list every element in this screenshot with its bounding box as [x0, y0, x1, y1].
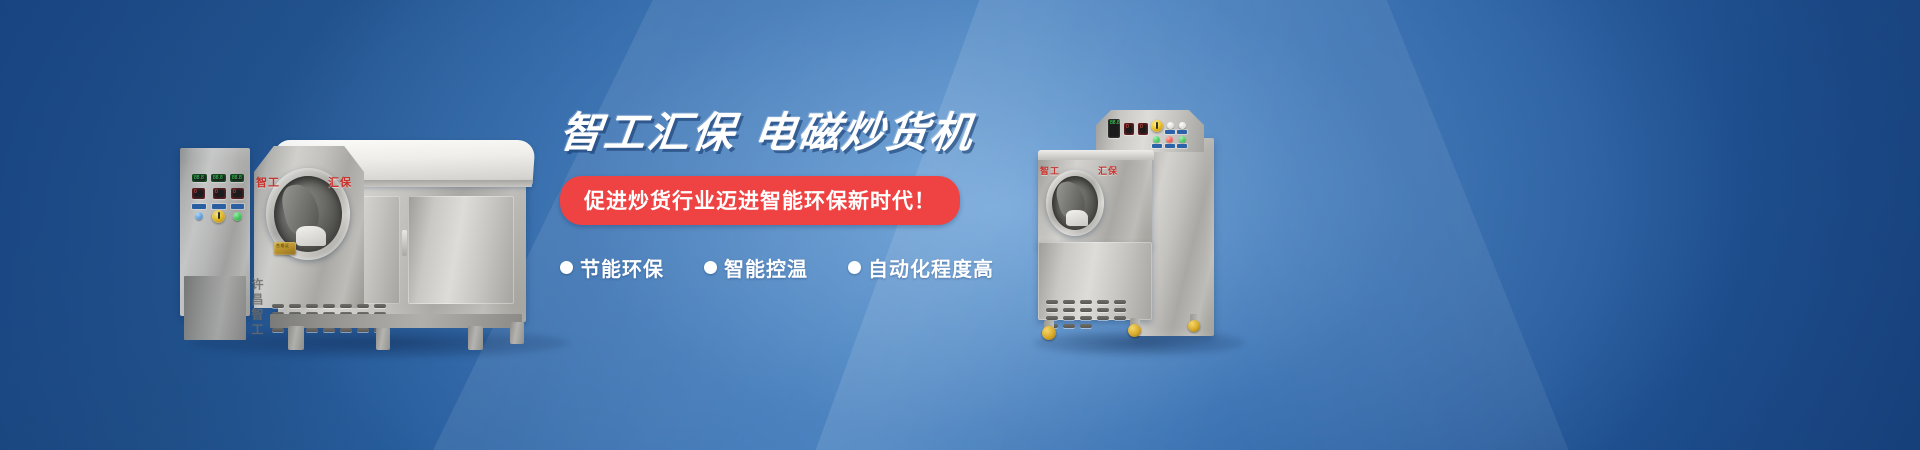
machine-brand-right-text: 汇保 — [1098, 164, 1118, 177]
banner-title-part-1: 智工汇保 — [557, 109, 739, 156]
machine-nameplate: 合格证 — [274, 242, 296, 255]
start-button[interactable] — [1153, 136, 1160, 143]
vent-slot — [357, 304, 369, 308]
vent-slot — [289, 304, 301, 308]
machine-door-right — [408, 196, 514, 304]
vent-slot — [1097, 316, 1109, 320]
bullet-dot-icon — [560, 261, 573, 274]
display-value: 88.8 — [194, 176, 205, 180]
vent-slot — [1063, 316, 1075, 320]
machine-leg — [376, 328, 390, 350]
stop-button[interactable] — [1166, 136, 1173, 143]
timer-display-2: 0 — [213, 188, 226, 199]
banner-title: 智工汇保电磁炒货机 — [557, 112, 1032, 154]
vent-slot — [340, 304, 352, 308]
display-value: 88.8 — [213, 176, 224, 180]
drum-scoop — [1066, 210, 1088, 226]
machine-brand-left-text: 智工 — [1040, 164, 1060, 177]
timer-display-3: 0 — [231, 188, 244, 199]
banner-feature-list: 节能环保 智能控温 自动化程度高 — [560, 253, 1030, 282]
machine-leg — [468, 326, 483, 350]
panel-label-aux — [1177, 144, 1187, 148]
banner-ribbon-text: 促进炒货行业迈进智能环保新时代！ — [584, 190, 936, 213]
emergency-knob[interactable] — [212, 210, 225, 223]
panel-label-forward — [1177, 130, 1187, 134]
indicator-light-1 — [1167, 122, 1174, 129]
panel-label-power — [1165, 144, 1175, 148]
machine-left: 智工 汇保 合格证 88.8 88.8 88.8 0 0 0 — [170, 100, 590, 360]
emergency-knob[interactable] — [1151, 120, 1163, 132]
feature-label: 智能控温 — [724, 253, 808, 282]
machine-side-text: 许昌智工 — [249, 278, 266, 338]
machine-leg — [510, 322, 524, 344]
panel-label-stop — [231, 204, 244, 209]
feature-item-1: 节能环保 — [560, 253, 664, 282]
vent-slot — [1046, 308, 1058, 312]
machine-vents — [1046, 300, 1136, 326]
knob-pointer — [218, 212, 220, 219]
display-value: 0 — [1126, 125, 1132, 133]
timer-display-1: 0 — [192, 188, 205, 199]
vent-slot — [1063, 308, 1075, 312]
nameplate-text: 合格证 — [276, 244, 294, 253]
panel-label-start — [212, 204, 226, 209]
knob-pointer — [1156, 122, 1158, 129]
banner-title-part-2: 电磁炒货机 — [751, 109, 977, 156]
promo-banner: 智工 汇保 合格证 88.8 88.8 88.8 0 0 0 — [0, 0, 1920, 450]
secondary-display-2: 0 — [1138, 123, 1148, 135]
banner-copy: 智工汇保电磁炒货机 促进炒货行业迈进智能环保新时代！ 节能环保 智能控温 自动化… — [560, 112, 1030, 282]
drum-opening — [1052, 176, 1098, 230]
bullet-dot-icon — [848, 261, 861, 274]
machine-brand-left-text: 智工 — [256, 174, 280, 190]
temperature-display-3: 88.8 — [230, 174, 244, 182]
display-value: 0 — [233, 190, 242, 197]
vent-slot — [306, 304, 318, 308]
temperature-display-1: 88.8 — [192, 174, 207, 182]
main-display: 88.8 — [1108, 119, 1120, 138]
vent-slot — [1097, 308, 1109, 312]
bullet-dot-icon — [704, 261, 717, 274]
panel-label-heat — [1165, 130, 1175, 134]
caster-wheel — [1042, 326, 1056, 340]
machine-brand-right-text: 汇保 — [328, 174, 352, 190]
feature-item-2: 智能控温 — [704, 253, 808, 282]
panel-label-reverse — [1152, 144, 1162, 148]
vent-slot — [357, 328, 369, 332]
panel-label-power — [192, 204, 206, 209]
vent-slot — [1046, 300, 1058, 304]
vent-slot — [1080, 308, 1092, 312]
machine-leg — [288, 326, 304, 350]
machine-right: 88.8 0 0 智工 汇保 合格证 — [1030, 92, 1250, 362]
machine-door-handle[interactable] — [402, 230, 407, 256]
vent-slot — [1097, 300, 1109, 304]
start-button[interactable] — [233, 212, 242, 221]
vent-slot — [272, 304, 284, 308]
machine-base-rail — [270, 314, 522, 328]
banner-ribbon: 促进炒货行业迈进智能环保新时代！ — [560, 176, 960, 225]
display-value: 0 — [215, 190, 224, 197]
reverse-button[interactable] — [1179, 136, 1186, 143]
drum-scoop — [296, 226, 326, 246]
vent-slot — [1063, 300, 1075, 304]
vent-slot — [306, 328, 318, 332]
vent-slot — [1063, 324, 1075, 328]
feature-item-3: 自动化程度高 — [848, 253, 994, 282]
vent-slot — [1080, 300, 1092, 304]
caster-wheel — [1188, 320, 1200, 332]
secondary-display-1: 0 — [1124, 123, 1134, 135]
caster-wheel — [1128, 324, 1141, 337]
control-tower-base — [184, 276, 246, 340]
display-value: 0 — [1140, 125, 1146, 133]
feature-label: 自动化程度高 — [868, 253, 994, 282]
temperature-display-2: 88.8 — [211, 174, 226, 182]
display-value: 88.8 — [232, 176, 242, 180]
vent-slot — [1114, 316, 1126, 320]
vent-slot — [272, 328, 284, 332]
vent-slot — [340, 328, 352, 332]
display-value: 88.8 — [1110, 121, 1118, 136]
power-button[interactable] — [195, 212, 203, 220]
vent-slot — [1080, 316, 1092, 320]
vent-slot — [374, 304, 386, 308]
feature-label: 节能环保 — [580, 253, 664, 282]
vent-slot — [323, 304, 335, 308]
vent-slot — [1114, 308, 1126, 312]
vent-slot — [323, 328, 335, 332]
display-value: 0 — [194, 190, 203, 197]
vent-slot — [1114, 300, 1126, 304]
drum-housing-top — [1038, 150, 1154, 160]
indicator-light-2 — [1179, 122, 1186, 129]
vent-slot — [1080, 324, 1092, 328]
